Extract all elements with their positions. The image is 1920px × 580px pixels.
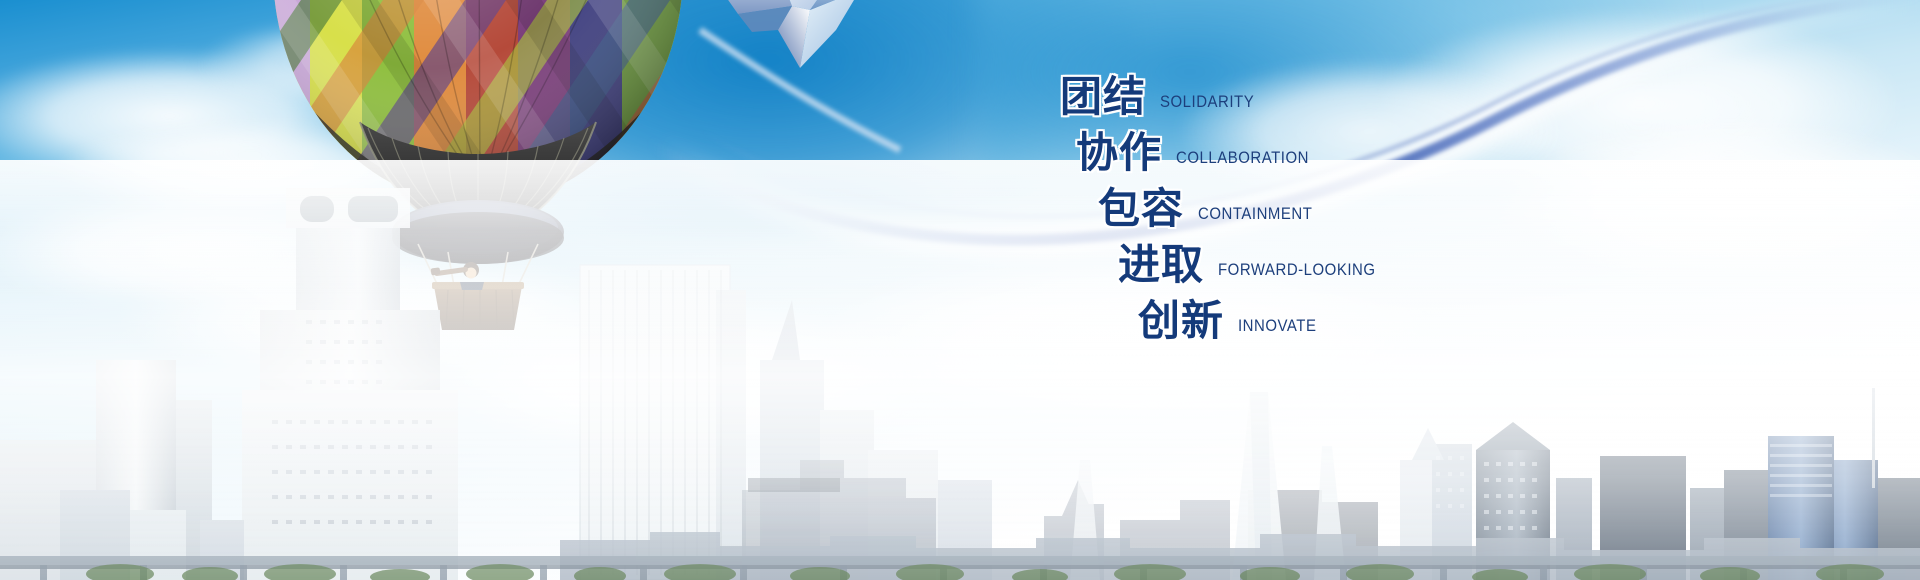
slogan-row-containment: 包容 CONTAINMENT <box>1098 188 1328 230</box>
city-foreground-band <box>0 160 1920 580</box>
paper-crane-icon <box>660 0 960 115</box>
slogan-en-containment: CONTAINMENT <box>1198 205 1312 222</box>
slogan-cn-containment: 包容 <box>1098 188 1184 230</box>
corporate-culture-banner: 团结 SOLIDARITY 协作 COLLABORATION 包容 CONTAI… <box>0 0 1920 580</box>
slogan-row-collaboration: 协作 COLLABORATION <box>1076 132 1327 174</box>
slogan-block: 团结 SOLIDARITY 协作 COLLABORATION 包容 CONTAI… <box>1060 60 1580 400</box>
slogan-cn-innovate: 创新 <box>1138 300 1224 342</box>
slogan-cn-collaboration: 协作 <box>1076 132 1162 174</box>
slogan-en-collaboration: COLLABORATION <box>1176 149 1309 166</box>
slogan-cn-forward-looking: 进取 <box>1118 244 1204 286</box>
slogan-row-innovate: 创新 INNOVATE <box>1138 300 1327 342</box>
slogan-row-solidarity: 团结 SOLIDARITY <box>1060 76 1267 118</box>
slogan-cn-solidarity: 团结 <box>1060 76 1146 118</box>
slogan-en-innovate: INNOVATE <box>1238 317 1316 334</box>
slogan-en-solidarity: SOLIDARITY <box>1160 93 1254 110</box>
slogan-row-forward-looking: 进取 FORWARD-LOOKING <box>1118 244 1397 286</box>
slogan-en-forward-looking: FORWARD-LOOKING <box>1218 261 1376 278</box>
